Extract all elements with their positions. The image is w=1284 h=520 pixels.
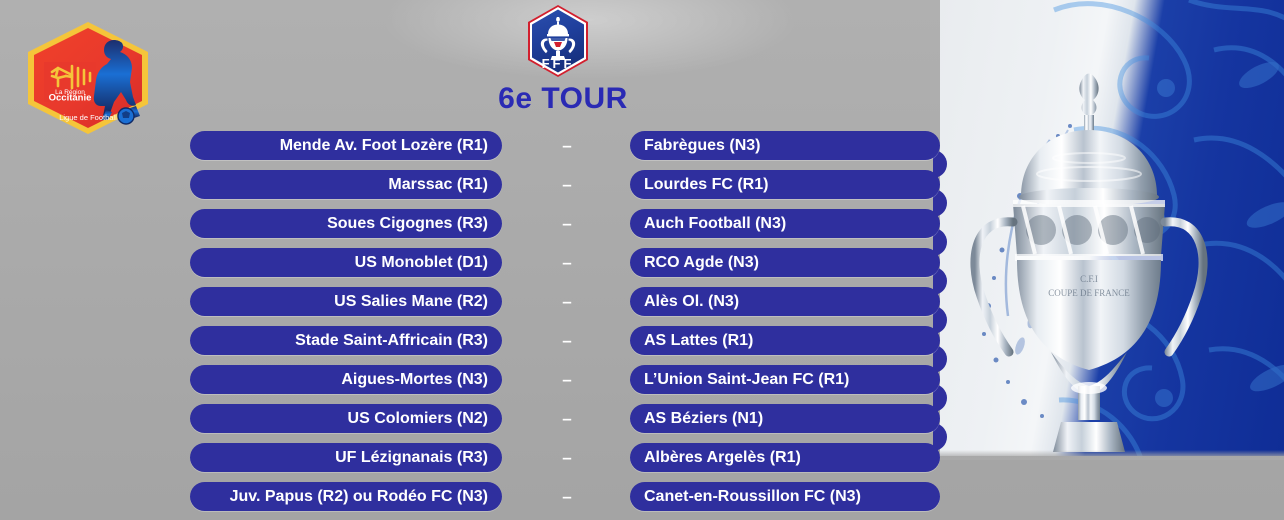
match-separator: – [557,482,577,511]
away-team-pill[interactable]: RCO Agde (N3) [630,248,940,277]
match-row: Stade Saint-Affricain (R3) – AS Lattes (… [0,326,1126,355]
home-team-pill[interactable]: UF Lézignanais (R3) [190,443,502,472]
home-team-pill[interactable]: Aigues-Mortes (N3) [190,365,502,394]
home-team-pill[interactable]: Marssac (R1) [190,170,502,199]
away-team-pill[interactable]: AS Béziers (N1) [630,404,940,433]
away-team-pill[interactable]: AS Lattes (R1) [630,326,940,355]
match-list: Mende Av. Foot Lozère (R1) – Fabrègues (… [0,131,1126,520]
match-row: US Monoblet (D1) – RCO Agde (N3) [0,248,1126,277]
match-row: US Colomiers (N2) – AS Béziers (N1) [0,404,1126,433]
page-title: 6e TOUR [0,82,1126,116]
home-team-pill[interactable]: Mende Av. Foot Lozère (R1) [190,131,502,160]
match-separator: – [557,443,577,472]
away-team-pill[interactable]: L’Union Saint-Jean FC (R1) [630,365,940,394]
home-team-pill[interactable]: Soues Cigognes (R3) [190,209,502,238]
match-separator: – [557,326,577,355]
away-team-pill[interactable]: Fabrègues (N3) [630,131,940,160]
away-team-pill[interactable]: Lourdes FC (R1) [630,170,940,199]
away-team-pill[interactable]: Albères Argelès (R1) [630,443,940,472]
fff-logo: FFF [526,4,590,78]
screenshot-root: C.F.I COUPE DE FRANCE [0,0,1284,520]
occitanie-league-logo: La Région Occitanie Ligue de Football [22,20,154,136]
match-separator: – [557,170,577,199]
match-separator: – [557,404,577,433]
away-team-pill[interactable]: Auch Football (N3) [630,209,940,238]
match-row: US Salies Mane (R2) – Alès Ol. (N3) [0,287,1126,316]
fff-logo-text: FFF [542,56,575,71]
home-team-pill[interactable]: US Monoblet (D1) [190,248,502,277]
home-team-pill[interactable]: US Salies Mane (R2) [190,287,502,316]
away-team-pill[interactable]: Alès Ol. (N3) [630,287,940,316]
match-row: Soues Cigognes (R3) – Auch Football (N3) [0,209,1126,238]
match-row: Juv. Papus (R2) ou Rodéo FC (N3) – Canet… [0,482,1126,511]
match-row: UF Lézignanais (R3) – Albères Argelès (R… [0,443,1126,472]
match-separator: – [557,365,577,394]
away-team-pill[interactable]: Canet-en-Roussillon FC (N3) [630,482,940,511]
home-team-pill[interactable]: Stade Saint-Affricain (R3) [190,326,502,355]
match-row: Mende Av. Foot Lozère (R1) – Fabrègues (… [0,131,1126,160]
match-separator: – [557,248,577,277]
match-row: Marssac (R1) – Lourdes FC (R1) [0,170,1126,199]
match-separator: – [557,131,577,160]
home-team-pill[interactable]: US Colomiers (N2) [190,404,502,433]
home-team-pill[interactable]: Juv. Papus (R2) ou Rodéo FC (N3) [190,482,502,511]
match-separator: – [557,209,577,238]
match-separator: – [557,287,577,316]
match-row: Aigues-Mortes (N3) – L’Union Saint-Jean … [0,365,1126,394]
